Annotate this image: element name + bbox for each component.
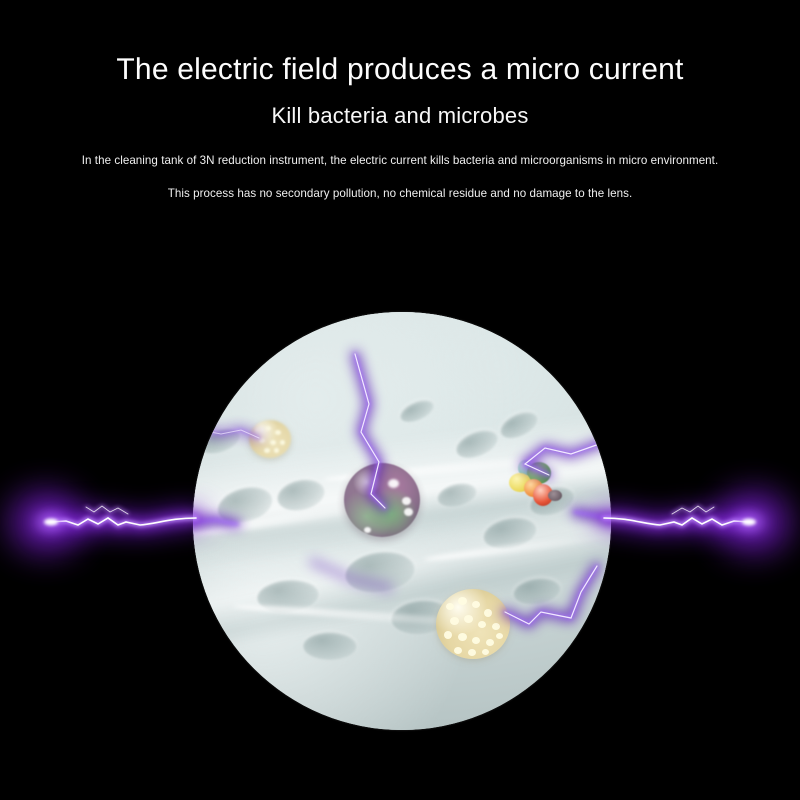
page-subtitle: Kill bacteria and microbes — [0, 103, 800, 129]
microbe-center — [344, 463, 420, 537]
cluster-grain — [255, 428, 261, 433]
cluster-grain — [264, 448, 270, 453]
cluster-grain — [484, 609, 492, 617]
microbe-spore — [404, 508, 413, 516]
cluster-grain — [275, 430, 281, 435]
cluster-grain — [450, 617, 459, 625]
cluster-grain — [492, 623, 500, 630]
cluster-grain — [444, 631, 452, 639]
cluster-small — [249, 420, 291, 458]
cluster-grain — [458, 597, 467, 605]
cluster-grain — [482, 649, 489, 655]
cluster-grain — [280, 440, 285, 445]
microbe-highlight — [388, 479, 399, 488]
cluster-grain — [274, 448, 279, 453]
cluster-grain — [496, 633, 503, 639]
slide-canvas: The electric field produces a micro curr… — [0, 0, 800, 800]
cluster-grain — [458, 633, 467, 641]
microbe-spore — [402, 497, 411, 505]
cluster-grain — [265, 426, 271, 431]
cluster-grain — [472, 601, 480, 608]
text-block: The electric field produces a micro curr… — [0, 0, 800, 202]
description-block: In the cleaning tank of 3N reduction ins… — [0, 153, 800, 201]
cluster-grain — [468, 649, 476, 656]
page-title: The electric field produces a micro curr… — [0, 52, 800, 87]
description-line-1: In the cleaning tank of 3N reduction ins… — [0, 153, 800, 169]
cluster-grain — [454, 647, 462, 654]
cluster-grain — [270, 440, 276, 445]
cluster-grain — [472, 637, 480, 644]
cluster-grain — [478, 621, 486, 628]
cluster-grain — [486, 639, 494, 646]
description-line-2: This process has no secondary pollution,… — [0, 186, 800, 202]
cluster-grain — [446, 603, 454, 610]
cluster-grain — [464, 615, 473, 623]
microscope-circle-view — [193, 312, 611, 730]
cluster-big — [436, 589, 510, 659]
microbe-spore — [364, 527, 371, 533]
microbe-color-cluster — [507, 460, 565, 512]
microbe-lobe-dark — [548, 490, 562, 501]
membrane-pore — [303, 632, 357, 660]
cluster-grain — [259, 438, 265, 443]
